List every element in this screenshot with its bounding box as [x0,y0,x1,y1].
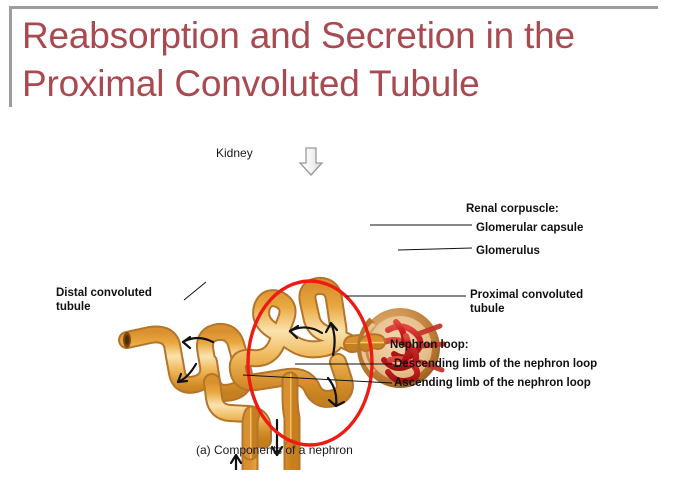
label-proximal-convoluted-tubule: Proximal convoluted tubule [470,288,583,316]
label-kidney: Kidney [216,146,253,160]
left-rule-divider [9,6,12,107]
label-renal-corpuscle: Renal corpuscle: [466,202,559,216]
label-nephron-loop: Nephron loop: [390,338,469,352]
tubule-cut-end [123,332,131,348]
top-rule-divider [9,6,658,9]
down-block-arrow-icon [300,148,322,175]
figure-caption: (a) Components of a nephron [196,443,353,457]
label-descending-limb: Descending limb of the nephron loop [394,357,597,371]
slide-canvas: Reabsorption and Secretion in the Proxim… [0,0,692,492]
label-glomerular-capsule: Glomerular capsule [476,221,583,235]
page-title: Reabsorption and Secretion in the Proxim… [22,12,662,108]
label-ascending-limb: Ascending limb of the nephron loop [394,376,591,390]
label-glomerulus: Glomerulus [476,244,540,258]
label-distal-convoluted-tubule: Distal convoluted tubule [56,286,152,314]
